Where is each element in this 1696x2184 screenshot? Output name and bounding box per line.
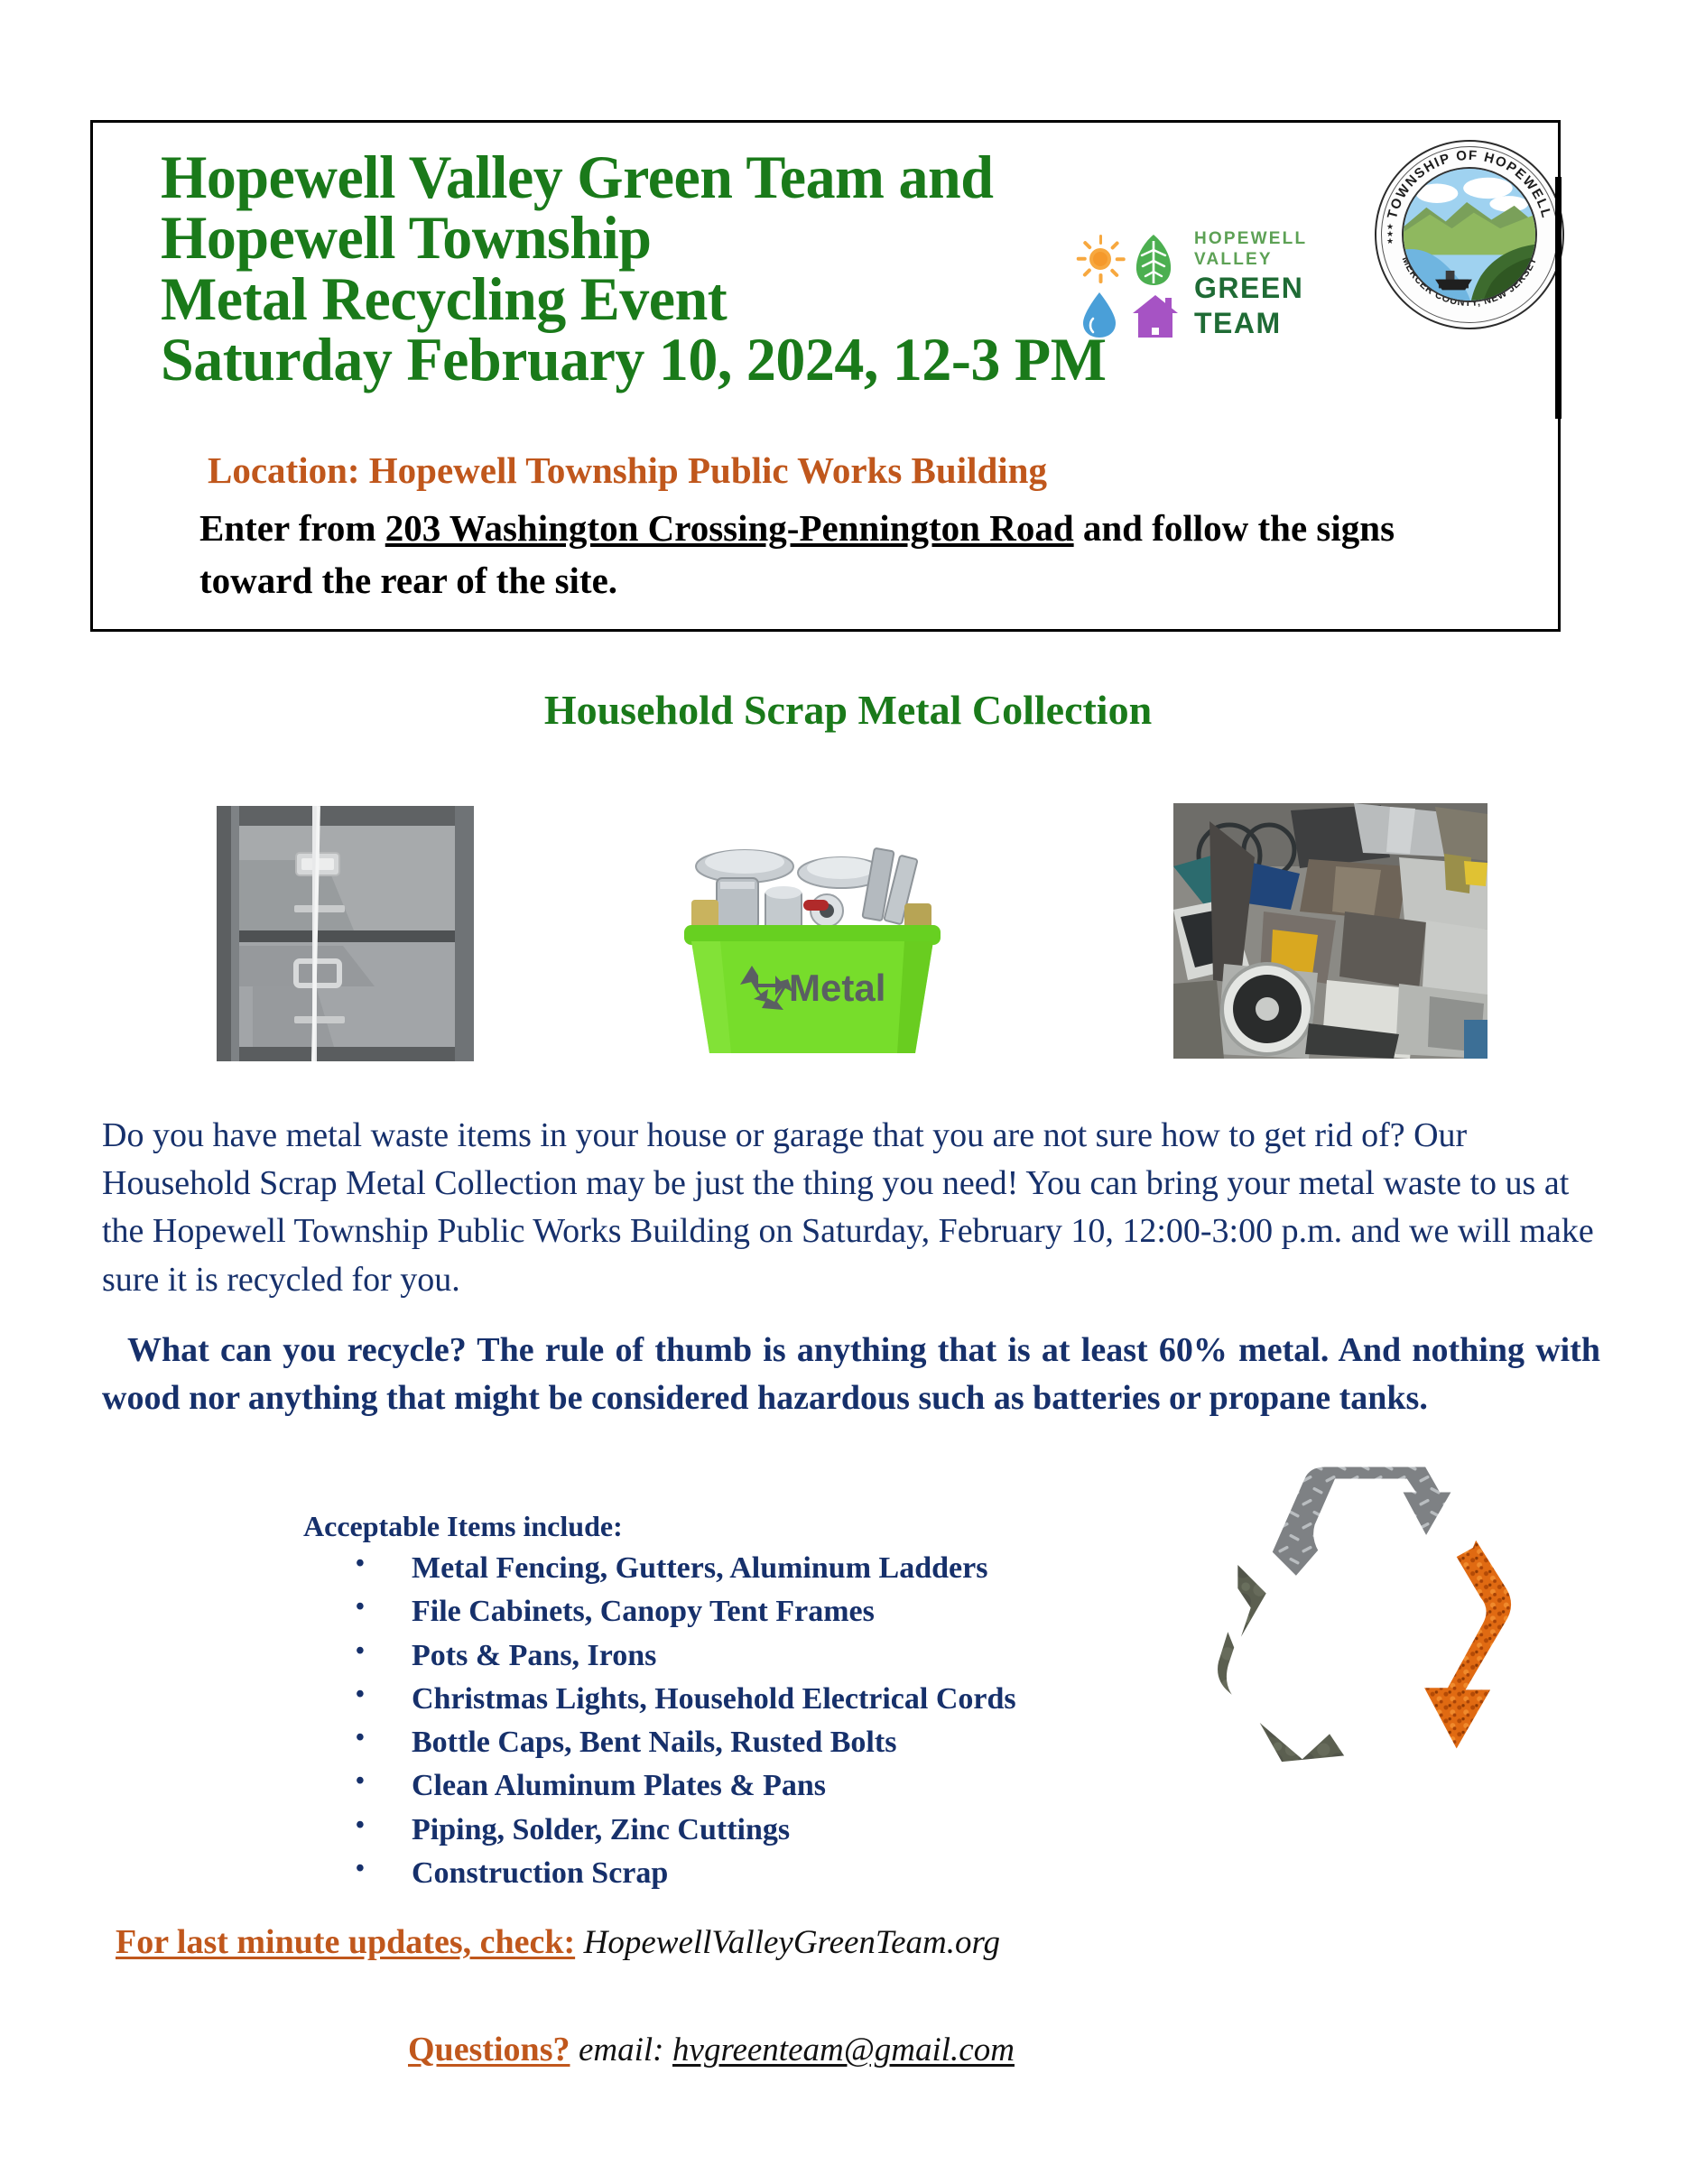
list-item: Piping, Solder, Zinc Cuttings bbox=[356, 1809, 1116, 1852]
sun-core bbox=[1089, 248, 1111, 270]
scrap-metal-pile-photo bbox=[1173, 803, 1487, 1059]
list-item: Clean Aluminum Plates & Pans bbox=[356, 1764, 1116, 1808]
list-item: Construction Scrap bbox=[356, 1852, 1116, 1895]
directions-paragraph: Enter from 203 Washington Crossing-Penni… bbox=[199, 502, 1490, 606]
questions-line: Questions? email: hvgreenteam@gmail.com bbox=[408, 2030, 1015, 2069]
recycle-arrow-right bbox=[1422, 1537, 1512, 1751]
header-box: Hopewell Valley Green Team and Hopewell … bbox=[90, 120, 1561, 632]
title-line-3: Metal Recycling Event bbox=[161, 269, 1194, 329]
bin-label: Metal bbox=[789, 967, 885, 1009]
questions-label: Questions? bbox=[408, 2031, 570, 2068]
acceptable-items-block: Acceptable Items include: Metal Fencing,… bbox=[303, 1510, 1116, 1895]
email-address[interactable]: hvgreenteam@gmail.com bbox=[672, 2031, 1015, 2068]
website-text[interactable]: HopewellValleyGreenTeam.org bbox=[584, 1924, 1000, 1961]
township-of-hopewell-seal: TOWNSHIP OF HOPEWELL MERCER COUNTY, NEW … bbox=[1375, 140, 1564, 329]
intro-paragraph: Do you have metal waste items in your ho… bbox=[102, 1112, 1596, 1304]
list-item: File Cabinets, Canopy Tent Frames bbox=[356, 1590, 1116, 1633]
metal-recycling-symbol-graphic bbox=[1182, 1451, 1534, 1785]
title-line-2: Hopewell Township bbox=[161, 208, 1194, 268]
acceptable-items-title: Acceptable Items include: bbox=[303, 1510, 1116, 1543]
list-item: Metal Fencing, Gutters, Aluminum Ladders bbox=[356, 1547, 1116, 1590]
logo-line-green: GREEN bbox=[1194, 273, 1348, 305]
logo-line-team: TEAM bbox=[1194, 308, 1348, 340]
title-line-1: Hopewell Valley Green Team and bbox=[161, 147, 1194, 208]
rules-paragraph: What can you recycle? The rule of thumb … bbox=[102, 1327, 1600, 1422]
logo-line-valley: VALLEY bbox=[1194, 249, 1348, 270]
seal-landscape-scene bbox=[1402, 167, 1537, 302]
list-item: Bottle Caps, Bent Nails, Rusted Bolts bbox=[356, 1721, 1116, 1764]
email-label: email: bbox=[579, 2031, 664, 2068]
location-line: Location: Hopewell Township Public Works… bbox=[208, 452, 1047, 489]
leaf-icon bbox=[1135, 234, 1172, 286]
event-title-block: Hopewell Valley Green Team and Hopewell … bbox=[161, 147, 1226, 390]
list-item: Pots & Pans, Irons bbox=[356, 1634, 1116, 1678]
title-line-4: Saturday February 10, 2024, 12-3 PM bbox=[161, 329, 1194, 390]
hopewell-valley-green-team-logo: HOPEWELL VALLEY GREEN TEAM bbox=[1068, 228, 1346, 344]
list-item: Christmas Lights, Household Electrical C… bbox=[356, 1678, 1116, 1721]
updates-label: For last minute updates, check: bbox=[116, 1923, 575, 1961]
recycle-arrow-top bbox=[1271, 1466, 1453, 1578]
section-heading: Household Scrap Metal Collection bbox=[0, 686, 1696, 734]
updates-line: For last minute updates, check: Hopewell… bbox=[116, 1922, 1000, 1962]
green-team-wordmark: HOPEWELL VALLEY GREEN TEAM bbox=[1194, 228, 1348, 340]
recycle-arrow-left bbox=[1216, 1561, 1347, 1763]
flyer-page: Hopewell Valley Green Team and Hopewell … bbox=[0, 0, 1696, 2184]
directions-prefix: Enter from bbox=[199, 507, 385, 549]
logo-line-hopewell: HOPEWELL bbox=[1194, 228, 1348, 249]
green-team-icon-group bbox=[1068, 232, 1187, 344]
water-drop-icon bbox=[1082, 292, 1117, 338]
house-icon bbox=[1131, 293, 1180, 338]
metal-recycling-bin-photo: Metal bbox=[677, 817, 948, 1062]
sun-icon bbox=[1080, 239, 1120, 279]
seal-stars: ★★★ bbox=[1386, 223, 1394, 245]
file-cabinet-photo bbox=[217, 806, 474, 1061]
directions-address: 203 Washington Crossing-Pennington Road bbox=[385, 507, 1074, 549]
acceptable-items-list: Metal Fencing, Gutters, Aluminum Ladders… bbox=[303, 1547, 1116, 1895]
